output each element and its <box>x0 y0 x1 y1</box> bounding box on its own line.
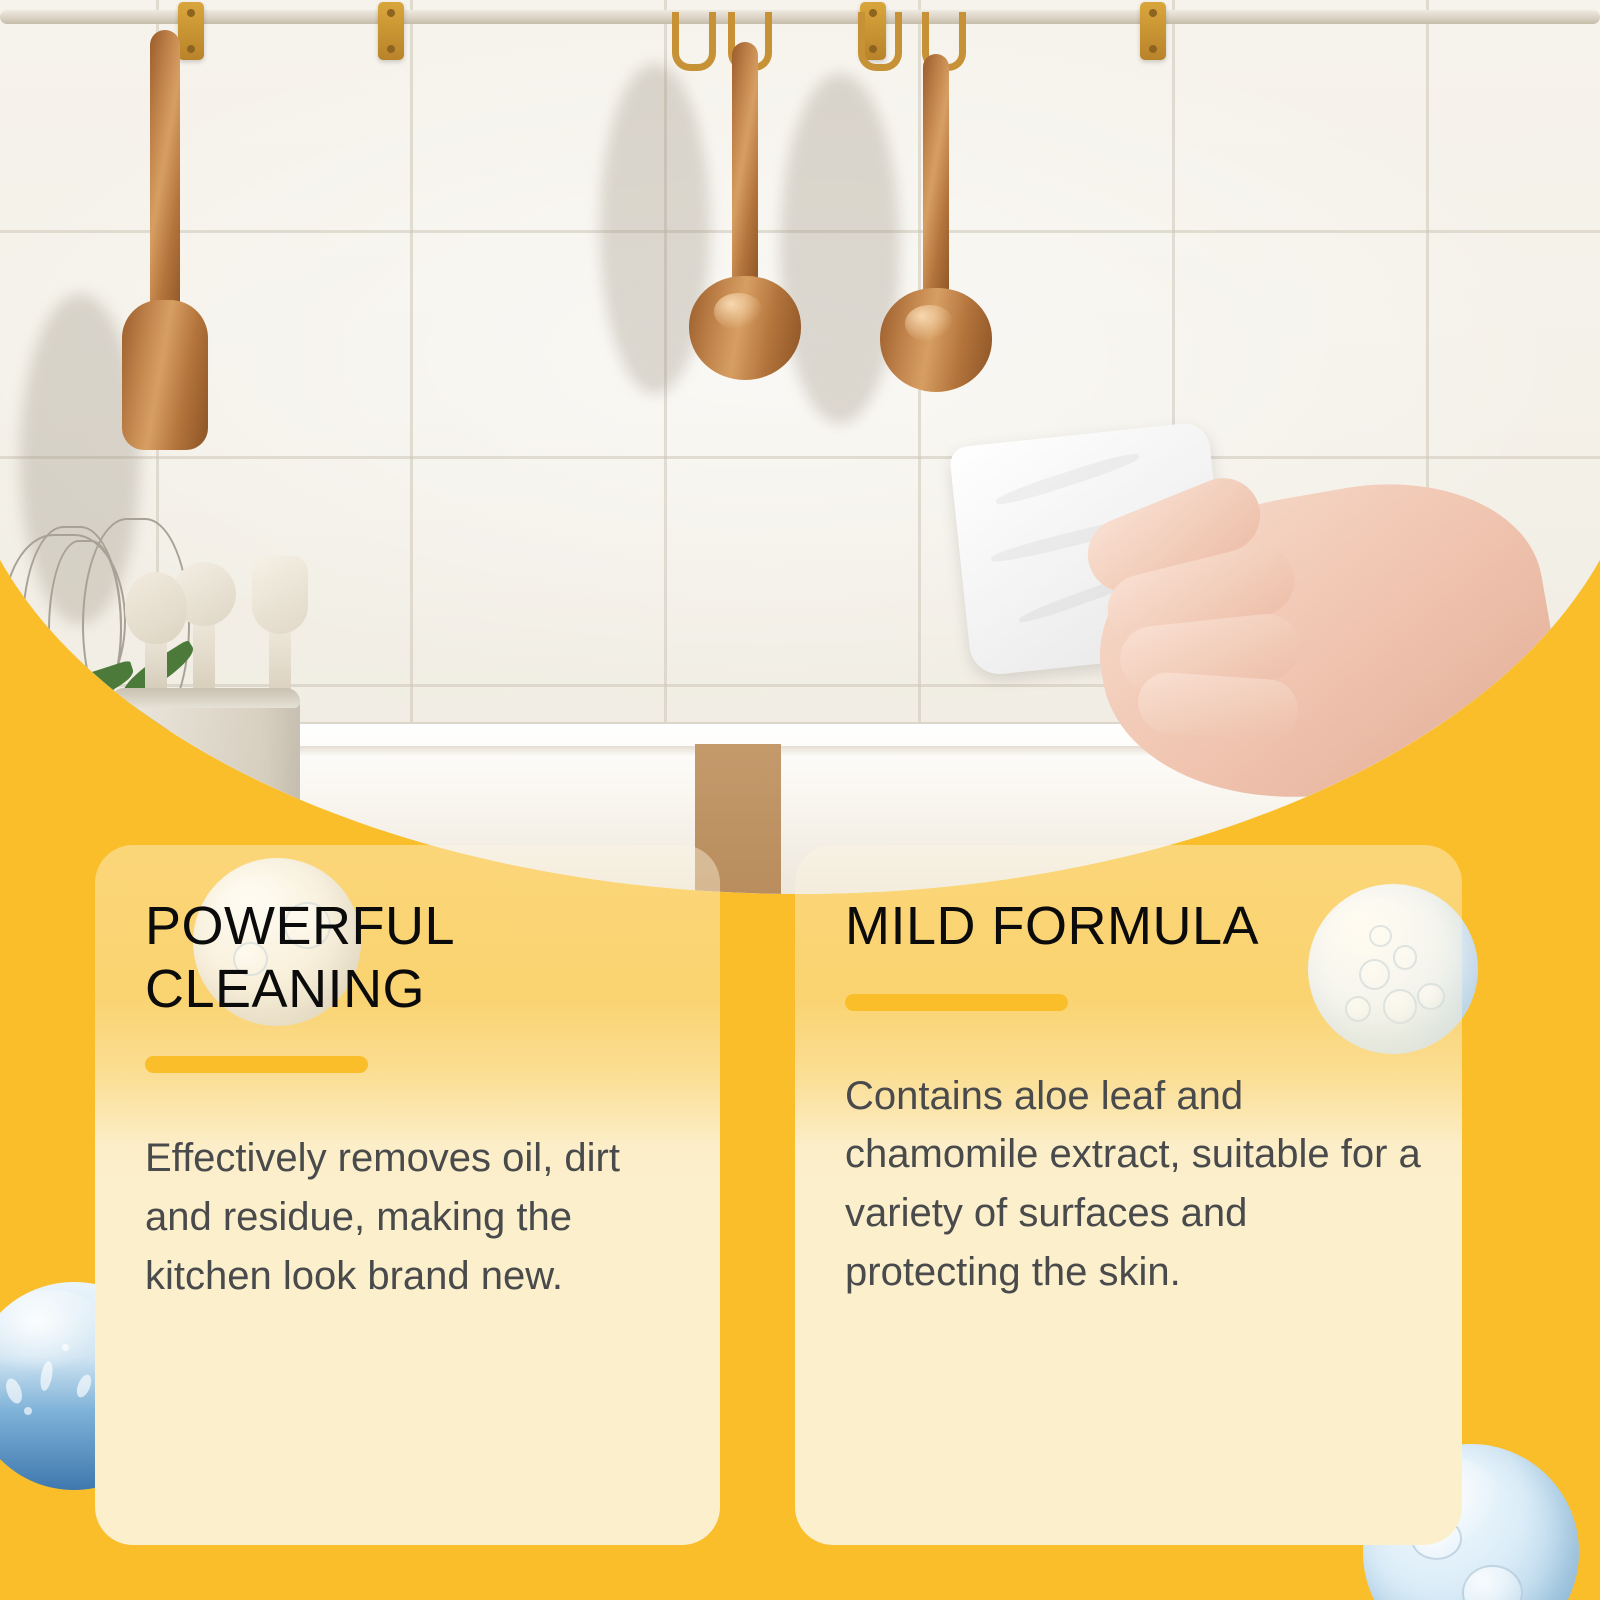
accent-bar-left <box>145 1056 368 1073</box>
crock-rim <box>110 688 300 708</box>
ladle-bowl <box>880 288 992 392</box>
water-splash <box>3 1376 25 1405</box>
rail-bracket <box>378 2 404 60</box>
hand-with-wipe <box>980 424 1600 844</box>
card-title-mild-formula: MILD FORMULA <box>845 895 1422 958</box>
spatula-head <box>252 556 308 634</box>
wooden-ladle <box>880 54 992 304</box>
wooden-spatula <box>120 30 210 330</box>
infographic-canvas: BLEND <box>0 0 1600 1600</box>
ladle-handle <box>923 54 949 304</box>
feature-card-powerful-cleaning: POWERFUL CLEANING Effectively removes oi… <box>95 845 720 1545</box>
feature-card-mild-formula: MILD FORMULA Contains aloe leaf and cham… <box>795 845 1462 1545</box>
wipe-fold <box>994 449 1141 509</box>
card-body-mild-formula: Contains aloe leaf and chamomile extract… <box>845 1067 1422 1302</box>
spatula-handle <box>150 30 180 330</box>
spoon-highlight <box>714 293 763 330</box>
spoon-handle <box>732 42 758 292</box>
card-title-powerful-cleaning: POWERFUL CLEANING <box>145 895 680 1020</box>
finger <box>1136 670 1300 741</box>
wooden-spoon <box>690 42 800 292</box>
crock-label: BLEND <box>128 803 282 828</box>
accent-bar-right <box>845 994 1068 1011</box>
utensil-crock: BLEND <box>110 688 300 858</box>
ladle-head <box>125 572 187 644</box>
rail-bracket <box>1140 2 1166 60</box>
spoon-bowl <box>689 276 801 380</box>
card-body-powerful-cleaning: Effectively removes oil, dirt and residu… <box>145 1129 680 1305</box>
spatula-blade <box>122 300 208 450</box>
water-splash <box>74 1372 94 1399</box>
water-droplet <box>24 1407 32 1415</box>
hanging-rail <box>0 10 1600 24</box>
ladle-highlight <box>905 305 954 342</box>
bubble-inner <box>1462 1565 1522 1600</box>
hero-photo: BLEND <box>0 0 1600 894</box>
